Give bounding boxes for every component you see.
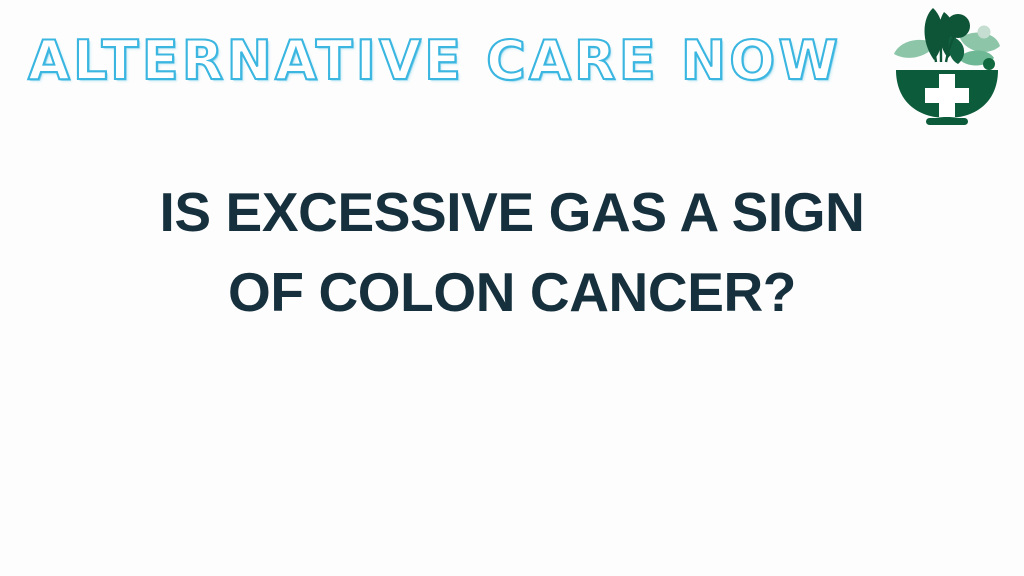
brand-logo[interactable] (884, 2, 1010, 128)
dot-light-icon (978, 26, 991, 39)
dot-dark-icon (983, 58, 995, 70)
page-title-line-2: OF COLON CANCER? (0, 252, 1024, 332)
header-bar: ALTERNATIVE CARE NOW (0, 0, 1024, 130)
content-area (0, 360, 1024, 576)
page-title-line-1: IS EXCESSIVE GAS A SIGN (0, 172, 1024, 252)
leaf-bud-icon (946, 14, 970, 38)
mortar-base-icon (926, 118, 968, 125)
grass-blade-2-icon (940, 28, 941, 62)
brand-wordmark[interactable]: ALTERNATIVE CARE NOW (28, 34, 841, 88)
mortar-bowl-with-cross-and-leaves-logo (884, 2, 1010, 128)
page-title: IS EXCESSIVE GAS A SIGN OF COLON CANCER? (0, 172, 1024, 332)
